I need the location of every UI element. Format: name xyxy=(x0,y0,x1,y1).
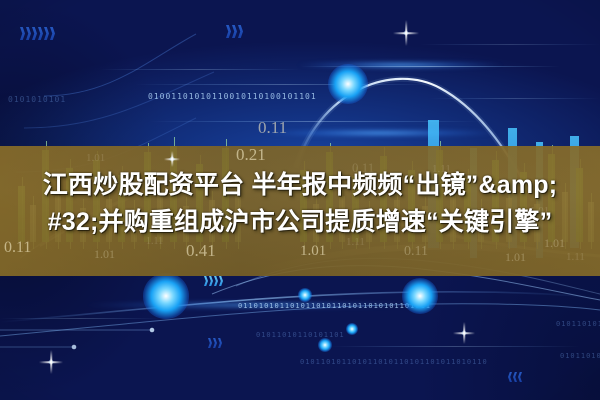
price-label: 1.01 xyxy=(505,250,526,265)
binary-digit-row: 0110101011010110101101011010101101011 xyxy=(238,302,431,310)
chevron-arrow-icon xyxy=(20,27,55,40)
binary-digit-row: 0101101011010 xyxy=(556,320,600,328)
light-streak xyxy=(330,346,580,347)
binary-digit-row: 010110101101011010110101101011010110 xyxy=(300,358,488,366)
glow-node xyxy=(143,273,189,319)
chevron-arrow-icon xyxy=(208,338,222,348)
binary-digit-row: 0101010101 xyxy=(8,95,66,104)
binary-digit-row: 010110101 xyxy=(560,352,600,360)
light-streak xyxy=(420,44,600,45)
light-streak xyxy=(270,60,530,70)
price-label: 0.41 xyxy=(186,241,216,261)
light-streak xyxy=(100,69,300,70)
headline-text: 江西炒股配资平台 半年报中频频“出镜”&amp; #32;并购重组成沪市公司提质… xyxy=(0,167,600,241)
sparkle-star xyxy=(393,20,419,46)
price-label: 0.11 xyxy=(404,244,428,260)
chevron-arrow-icon xyxy=(204,276,223,286)
headline-line-1: 江西炒股配资平台 半年报中频频“出镜”&amp; xyxy=(0,167,600,204)
price-label: 1.01 xyxy=(300,243,326,260)
sparkle-star xyxy=(39,350,63,374)
chevron-arrow-icon xyxy=(508,372,522,382)
sparkle-star xyxy=(164,151,180,167)
binary-digit-row: 01011010110101101 xyxy=(256,331,345,339)
price-label: 0.11 xyxy=(258,118,287,138)
sparkle-star xyxy=(453,322,475,344)
light-streak xyxy=(430,98,600,99)
light-streak xyxy=(0,318,160,319)
price-label: 1.01 xyxy=(94,247,115,262)
glow-node xyxy=(346,323,358,335)
headline-line-2: #32;并购重组成沪市公司提质增速“关键引擎” xyxy=(0,204,600,241)
price-label: 1.01 xyxy=(86,152,105,164)
price-label: 1.11 xyxy=(566,251,585,263)
promo-banner: 0100110101011001011010010110101010101010… xyxy=(0,0,600,400)
glow-node xyxy=(402,278,438,314)
price-label: 0.11 xyxy=(4,239,31,257)
price-label: 0.21 xyxy=(236,145,266,165)
binary-digit-row: 01001101010110010110100101101 xyxy=(148,92,317,101)
chevron-arrow-icon xyxy=(226,25,243,38)
light-streak xyxy=(135,84,435,85)
